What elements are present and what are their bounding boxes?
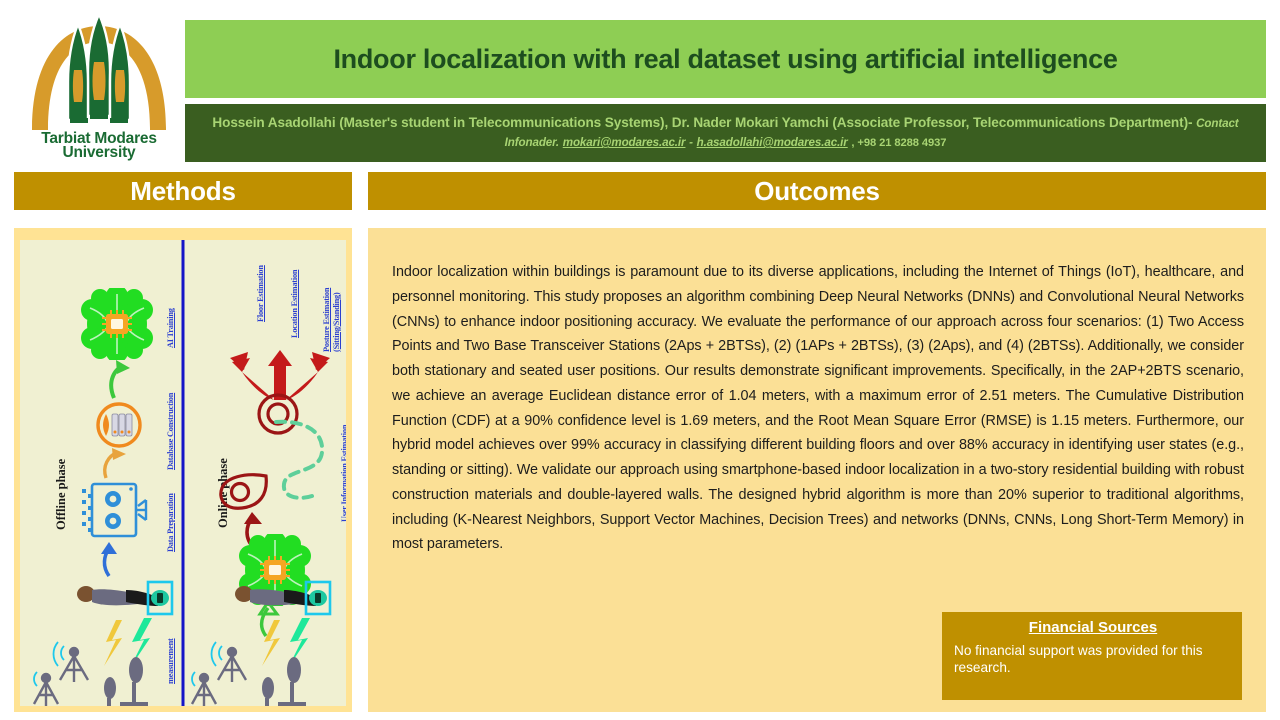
phone-number: , +98 21 8288 4937 — [851, 137, 946, 149]
financial-sources-title: Financial Sources — [954, 619, 1232, 636]
offline-step-label-data-preparation: Data Preparation — [166, 493, 175, 552]
offline-step-label-measurement: measurement — [166, 638, 175, 684]
page-title: Indoor localization with real dataset us… — [333, 44, 1117, 75]
university-logo: Tarbiat Modares University — [14, 8, 184, 170]
dashed-path-icon — [272, 412, 346, 502]
person-phone-antenna-icon — [64, 576, 174, 620]
arrow-up-blue-icon — [96, 540, 122, 578]
wheat-arch-logo-icon — [14, 8, 184, 133]
poster-title-bar: Indoor localization with real dataset us… — [185, 20, 1266, 98]
online-step-label-posture-estimation: Posture Estimation (Sitting/Standing) — [322, 288, 341, 352]
poster-canvas: Tarbiat Modares University Indoor locali… — [0, 0, 1280, 720]
logo-name-line-2: University — [14, 145, 184, 161]
email-separator: - — [689, 136, 693, 149]
brain-chip-icon — [78, 288, 156, 360]
offline-phase-label: Offline phase — [54, 459, 69, 530]
email-link-mokari[interactable]: mokari@modares.ac.ir — [563, 136, 686, 149]
online-step-label-user-information-estimation: User Information Estimation — [340, 425, 346, 522]
gears-server-icon — [80, 480, 152, 540]
financial-sources-text: No financial support was provided for th… — [954, 642, 1232, 677]
author-contact-bar: Hossein Asadollahi (Master's student in … — [185, 104, 1266, 162]
arrow-up-orange-icon — [100, 446, 134, 480]
section-header-methods: Methods — [14, 172, 352, 210]
email-link-asadollahi[interactable]: h.asadollahi@modares.ac.ir — [697, 136, 848, 149]
online-step-label-floor-estimation: Floor Estimation — [256, 265, 265, 322]
location-pin-icon — [216, 472, 272, 514]
methods-panel: Offline phase — [14, 228, 352, 712]
author-names: Hossein Asadollahi (Master's student in … — [212, 115, 1192, 130]
arrow-up-green-icon — [106, 358, 140, 400]
online-step-label-location-estimation: Location Estimation — [290, 270, 299, 338]
outcomes-panel: Indoor localization within buildings is … — [368, 228, 1266, 712]
offline-step-label-database-construction: Database Construction — [166, 393, 175, 470]
section-header-outcomes: Outcomes — [368, 172, 1266, 210]
database-ring-icon — [94, 400, 144, 450]
financial-sources-box: Financial Sources No financial support w… — [942, 612, 1242, 700]
section-header-outcomes-label: Outcomes — [754, 176, 880, 207]
abstract-text: Indoor localization within buildings is … — [392, 260, 1244, 557]
signal-antenna-towers-icon — [190, 618, 336, 706]
methods-flow-diagram: Offline phase — [20, 240, 346, 706]
section-header-methods-label: Methods — [130, 176, 235, 207]
person-phone-antenna-icon — [222, 576, 332, 620]
offline-step-label-ai-training: AI Training — [166, 308, 175, 348]
phase-divider-line — [182, 240, 185, 706]
signal-antenna-towers-icon — [32, 618, 178, 706]
